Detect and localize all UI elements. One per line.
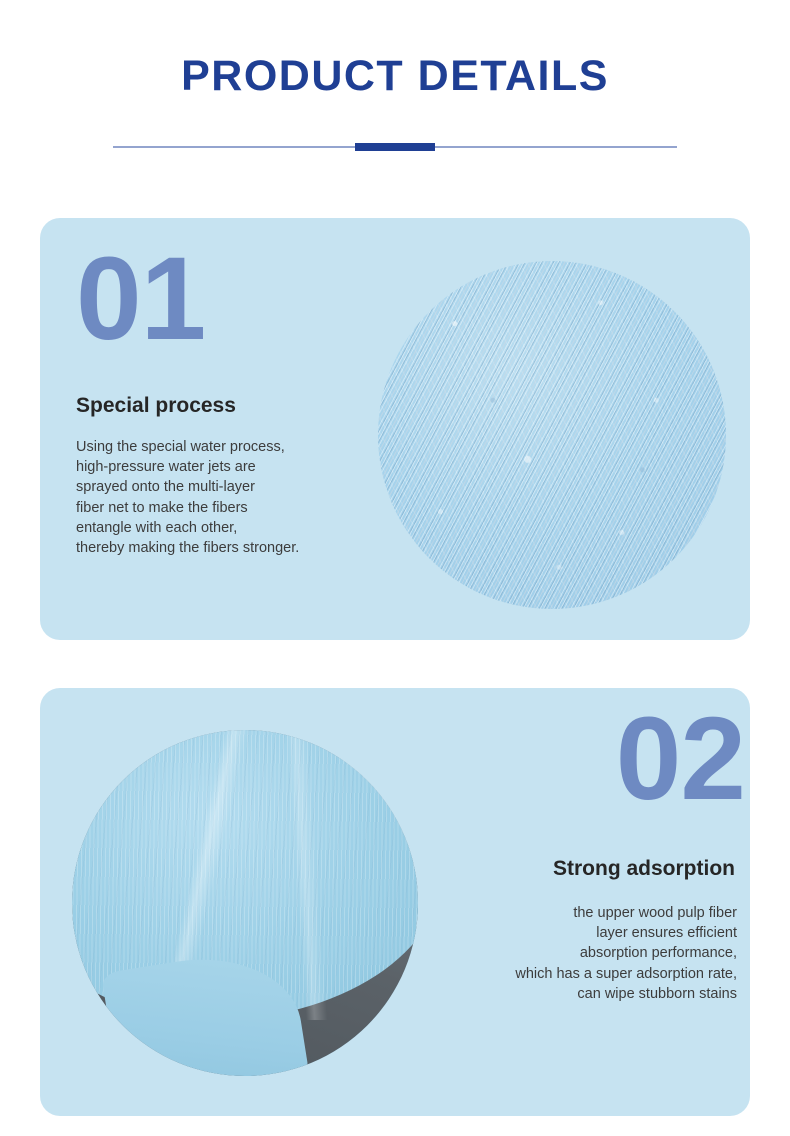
- body-line: can wipe stubborn stains: [417, 984, 737, 1004]
- product-photo-fabric-texture: [378, 261, 726, 609]
- body-line: which has a super adsorption rate,: [417, 964, 737, 984]
- body-line: layer ensures efficient: [417, 923, 737, 943]
- divider-accent-segment: [355, 143, 435, 151]
- body-line: sprayed onto the multi-layer: [76, 477, 376, 497]
- product-photo-wiping-cloth: [72, 730, 418, 1076]
- title-divider: [113, 142, 677, 152]
- body-line: entangle with each other,: [76, 518, 376, 538]
- feature-number-01: 01: [76, 240, 205, 358]
- fabric-fiber-specks: [378, 261, 726, 609]
- feature-heading-01: Special process: [76, 393, 236, 419]
- body-line: thereby making the fibers stronger.: [76, 538, 376, 558]
- body-line: high-pressure water jets are: [76, 457, 376, 477]
- feature-number-02: 02: [616, 700, 745, 818]
- page-header: PRODUCT DETAILS: [0, 0, 790, 200]
- feature-card-01: 01 Special process Using the special wat…: [40, 218, 750, 640]
- feature-heading-02: Strong adsorption: [553, 856, 735, 882]
- body-line: Using the special water process,: [76, 437, 376, 457]
- page-title: PRODUCT DETAILS: [0, 50, 790, 102]
- body-line: absorption performance,: [417, 943, 737, 963]
- feature-body-02: the upper wood pulp fiber layer ensures …: [417, 903, 737, 1004]
- body-line: the upper wood pulp fiber: [417, 903, 737, 923]
- body-line: fiber net to make the fibers: [76, 498, 376, 518]
- feature-body-01: Using the special water process, high-pr…: [76, 437, 376, 558]
- feature-card-02: 02 Strong adsorption the upper wood pulp…: [40, 688, 750, 1116]
